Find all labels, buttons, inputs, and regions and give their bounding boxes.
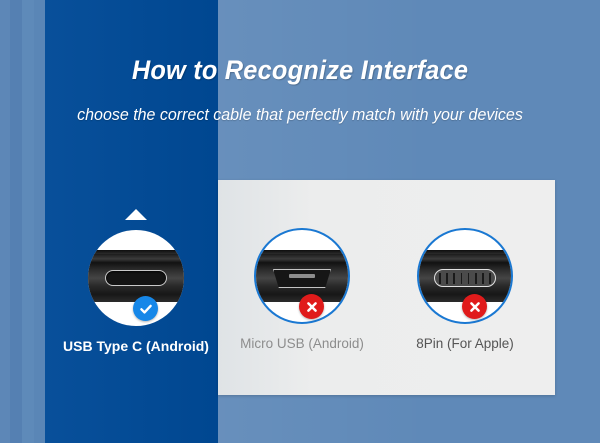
check-badge-icon — [133, 296, 158, 321]
micro-usb-port-opening — [273, 269, 331, 288]
lightning-pin — [468, 273, 470, 284]
usb-c-port-opening — [105, 270, 167, 286]
page-title: How to Recognize Interface — [18, 55, 582, 86]
lightning-port-opening — [434, 269, 496, 287]
connector-illustration-8pin-apple — [417, 228, 513, 324]
connector-label-micro-usb: Micro USB (Android) — [222, 336, 382, 351]
connector-illustration-micro-usb — [254, 228, 350, 324]
cross-badge-icon — [462, 294, 487, 319]
lightning-pin — [453, 273, 455, 284]
lightning-pin — [439, 273, 441, 284]
connector-label-usb-type-c: USB Type C (Android) — [56, 338, 216, 354]
lightning-pin — [446, 273, 448, 284]
connector-item-usb-type-c[interactable]: USB Type C (Android) — [56, 205, 216, 354]
micro-usb-port-tongue — [289, 274, 315, 278]
page-subtitle: choose the correct cable that perfectly … — [9, 106, 591, 125]
connector-illustration-usb-type-c — [88, 230, 184, 326]
plug-body — [254, 254, 350, 302]
lightning-pin — [475, 273, 477, 284]
connector-item-micro-usb[interactable]: Micro USB (Android) — [222, 228, 382, 351]
plug-body — [417, 254, 513, 302]
plug-body — [88, 254, 184, 302]
triangle-up-icon — [125, 209, 147, 220]
lightning-pin — [461, 273, 463, 284]
lightning-pin — [489, 273, 491, 284]
connector-item-8pin-apple[interactable]: 8Pin (For Apple) — [385, 228, 545, 351]
connector-label-8pin-apple: 8Pin (For Apple) — [385, 336, 545, 351]
cross-badge-icon — [299, 294, 324, 319]
infographic-root: How to Recognize Interface choose the co… — [0, 0, 600, 443]
lightning-pin — [482, 273, 484, 284]
